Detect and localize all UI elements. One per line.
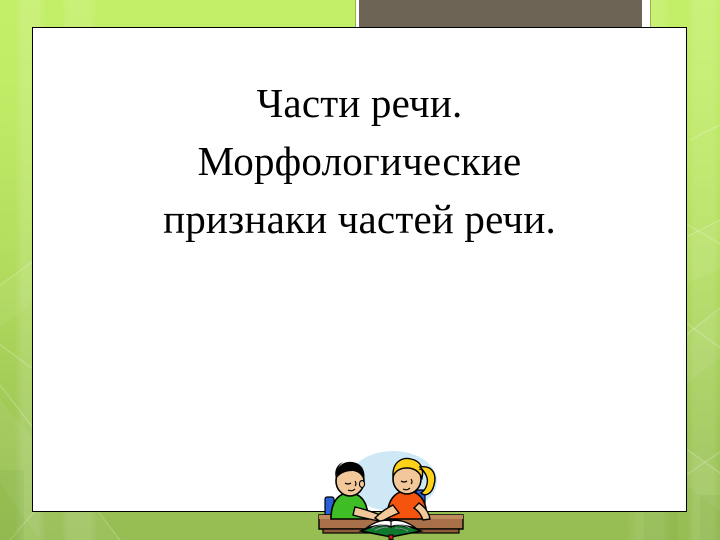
presentation-slide: Части речи. Морфологические признаки час… — [0, 0, 720, 540]
page-title: Части речи. Морфологические признаки час… — [33, 74, 686, 249]
two-children-reading-book-clipart — [315, 445, 467, 540]
white-content-card: Части речи. Морфологические признаки час… — [32, 27, 687, 512]
